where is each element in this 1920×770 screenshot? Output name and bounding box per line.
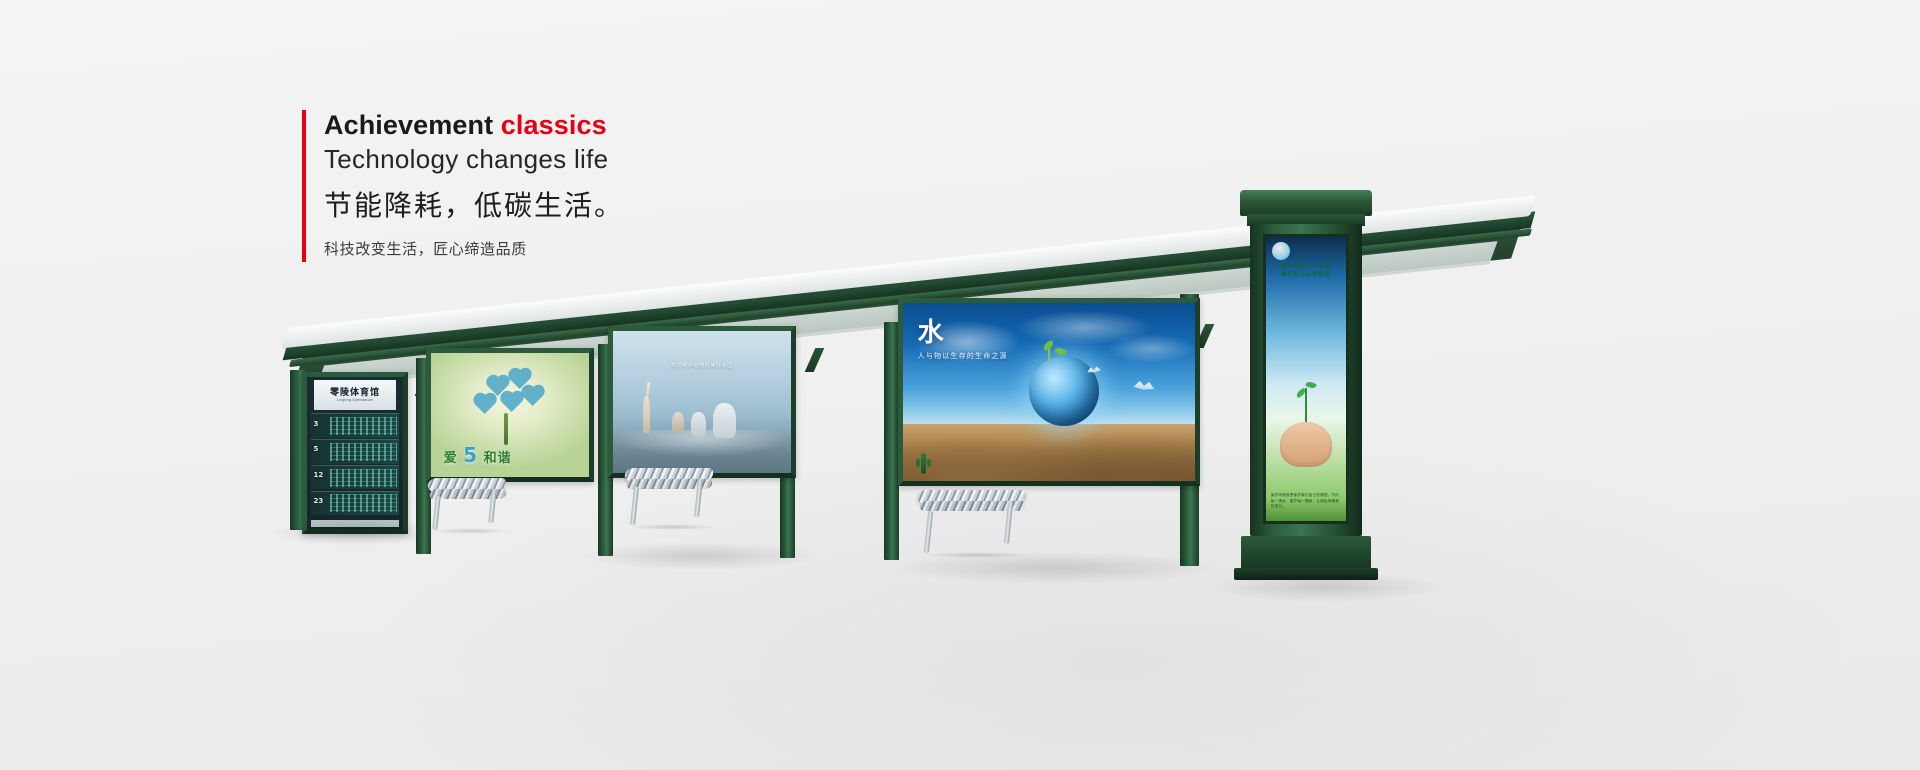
- bus-shelter: 零陵体育馆 Lingling Gymnasium 3 5 12: [250, 160, 1480, 620]
- route-row-list: 3 5 12 23: [311, 413, 399, 519]
- heart-icon: [523, 387, 542, 406]
- panel-route-board[interactable]: 零陵体育馆 Lingling Gymnasium 3 5 12: [302, 372, 408, 534]
- headline-line-1-red: classics: [501, 110, 607, 140]
- giraffe-body: [643, 396, 650, 433]
- ground-shadow: [890, 552, 1220, 584]
- water-subtitle: 人与物以生存的生命之源: [918, 351, 1008, 361]
- bench-leg: [924, 511, 933, 553]
- ground-shadow: [1210, 572, 1440, 602]
- heart-icon: [503, 393, 522, 412]
- station-route-map: 零陵体育馆 Lingling Gymnasium 3 5 12: [307, 377, 403, 529]
- pillar-body: 保护环境人人有责 绿色生活从我做起 保护环境就是保护我们自己的家园，节约每一滴水…: [1250, 224, 1362, 536]
- route-row: 3: [311, 413, 399, 437]
- cactus-icon: [921, 453, 926, 474]
- route-number: 12: [313, 471, 323, 479]
- sprout-stem-icon: [1048, 349, 1050, 361]
- pillar-ad-title-line1: 保护环境人人有责: [1266, 263, 1346, 271]
- route-number: 5: [313, 445, 318, 453]
- route-row: 23: [311, 491, 399, 515]
- water-title: 水: [918, 312, 944, 349]
- bench-shadow: [432, 528, 510, 534]
- pillar-cap: [1240, 190, 1372, 216]
- ad-artwork-tree: 爱 5 和谐: [431, 353, 589, 477]
- bench-leg: [432, 496, 441, 530]
- pillar-ad-screen[interactable]: 保护环境人人有责 绿色生活从我做起 保护环境就是保护我们自己的家园，节约每一滴水…: [1263, 234, 1349, 524]
- ad-artwork-water: 水 人与物以生存的生命之源: [903, 303, 1195, 481]
- route-stops-strip: [330, 469, 397, 487]
- bench-1: [428, 478, 506, 530]
- route-row: 5: [311, 439, 399, 463]
- ground-shadow: [270, 520, 440, 546]
- ad-tree-caption-a: 爱: [444, 451, 458, 466]
- headline-line-1: Achievement classics: [324, 108, 922, 142]
- earth-globe-icon: [1029, 356, 1099, 426]
- ad-artwork-wildlife: 共同呵护动物的美好家园: [613, 331, 791, 473]
- bench-leg: [630, 487, 639, 525]
- ad-tree-caption: 爱 5 和谐: [444, 443, 512, 467]
- elephant-icon: [713, 403, 736, 437]
- panel-ad-water[interactable]: 水 人与物以生存的生命之源: [898, 298, 1200, 486]
- bench-shadow: [629, 524, 717, 530]
- ad-tree-caption-b: 和谐: [484, 451, 512, 466]
- station-header: 零陵体育馆 Lingling Gymnasium: [314, 380, 397, 410]
- tree-trunk-shape: [504, 413, 509, 445]
- shelter-post: [884, 322, 899, 560]
- ground-plane: [613, 430, 791, 473]
- roof-rib: [805, 348, 825, 372]
- heart-icon: [476, 395, 495, 414]
- route-stops-strip: [330, 443, 397, 461]
- ground-shadow: [580, 542, 820, 570]
- route-stops-strip: [330, 417, 397, 435]
- ad-wildlife-caption: 共同呵护动物的美好家园: [613, 362, 791, 369]
- headline-line-1-black: Achievement: [324, 110, 501, 140]
- station-name-en: Lingling Gymnasium: [337, 398, 373, 403]
- desert-dunes: [903, 424, 1195, 481]
- pillar-ad-caption: 保护环境就是保护我们自己的家园，节约每一滴水，爱护每一棵树，让绿色伴随我们成长。: [1271, 493, 1341, 509]
- route-number: 23: [313, 497, 323, 505]
- ad-tree-caption-num: 5: [463, 443, 478, 467]
- scene-background: Achievement classics Technology changes …: [0, 0, 1920, 770]
- camel-icon: [672, 412, 684, 433]
- station-name: 零陵体育馆: [330, 388, 380, 398]
- panel-ad-tree[interactable]: 爱 5 和谐: [426, 348, 594, 482]
- bench-3: [918, 490, 1026, 554]
- vertical-light-box[interactable]: 保护环境人人有责 绿色生活从我做起 保护环境就是保护我们自己的家园，节约每一滴水…: [1250, 190, 1362, 580]
- pillar-ad-title-line2: 绿色生活从我做起: [1266, 271, 1346, 279]
- hands-icon: [1280, 422, 1331, 467]
- route-stops-strip: [330, 494, 397, 512]
- brand-logo-icon: [1272, 242, 1290, 260]
- route-number: 3: [313, 420, 318, 428]
- pillar-ad-title: 保护环境人人有责 绿色生活从我做起: [1266, 263, 1346, 279]
- panel-ad-wildlife[interactable]: 共同呵护动物的美好家园: [608, 326, 796, 478]
- bench-2: [625, 468, 713, 526]
- route-row: 12: [311, 465, 399, 489]
- elephant-small-icon: [691, 412, 705, 436]
